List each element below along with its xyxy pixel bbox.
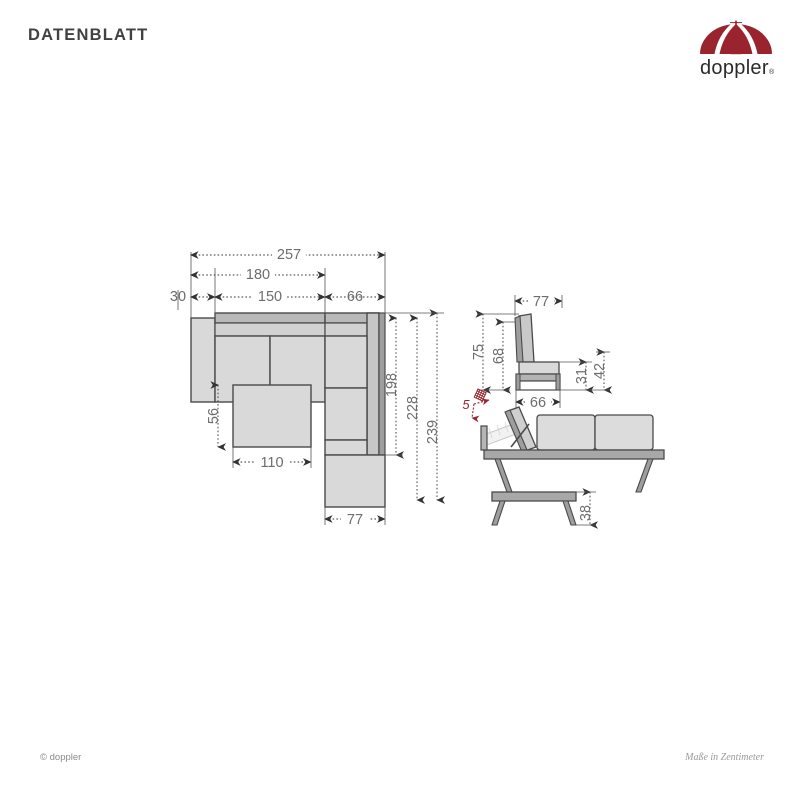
side-view-armchair	[515, 314, 560, 390]
dim-75: 75	[471, 344, 487, 360]
dim-56: 56	[206, 408, 222, 424]
dim-66: 66	[530, 395, 546, 411]
adjust-positions-count: 5	[462, 397, 470, 412]
dim-31: 31	[574, 368, 590, 384]
dim-228: 228	[405, 396, 421, 420]
technical-drawing: 257 180 150 66 30 198 228 239 56 110 77	[0, 0, 800, 800]
dim-66: 66	[347, 289, 363, 305]
dim-30: 30	[170, 289, 186, 305]
dim-42: 42	[592, 363, 608, 379]
adjust-arrow-down	[472, 404, 474, 418]
dim-77-side: 77	[533, 294, 549, 310]
dim-68: 68	[491, 348, 507, 364]
footer-copyright: © doppler	[40, 752, 81, 763]
dim-257: 257	[277, 247, 301, 263]
adjust-hatch-icon	[474, 389, 486, 401]
side-view-lounger	[481, 407, 664, 492]
armchair-dimension-labels: 77 75 68 66 31 42	[471, 292, 608, 411]
dim-38: 38	[578, 505, 594, 521]
backrest-adjustment-annotation: 5	[462, 389, 489, 418]
footer-units-note: Maße in Zentimeter	[685, 752, 764, 763]
dim-77-plan: 77	[347, 512, 363, 528]
dim-198: 198	[384, 373, 400, 397]
side-view-table	[492, 492, 576, 525]
datasheet-page: DATENBLATT doppler ®	[0, 0, 800, 800]
dim-150: 150	[258, 289, 282, 305]
dim-110: 110	[260, 455, 283, 471]
dim-180: 180	[246, 267, 270, 283]
dim-239: 239	[425, 420, 441, 444]
